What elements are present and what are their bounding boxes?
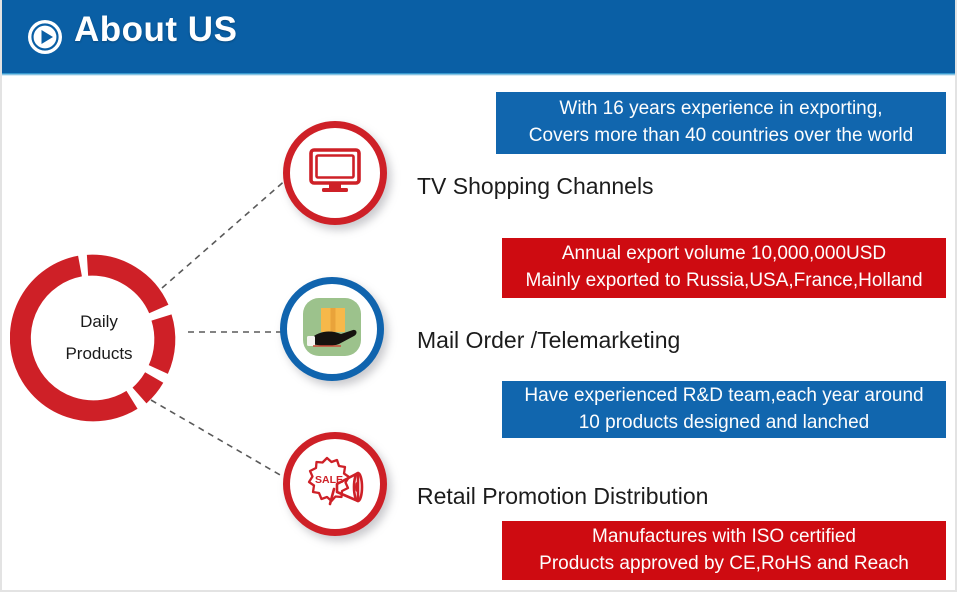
hand-holding-box-icon [301, 296, 363, 363]
banner-rnd-team-line2: 10 products designed and lanched [579, 410, 870, 437]
banner-export-volume-line1: Annual export volume 10,000,000USD [562, 241, 886, 268]
node-mail-order[interactable] [280, 277, 384, 381]
play-circle-icon [27, 19, 63, 55]
television-icon [307, 146, 363, 201]
donut-segment-3 [158, 318, 165, 370]
daily-products-donut [10, 249, 188, 427]
banner-rnd-team-line1: Have experienced R&D team,each year arou… [524, 383, 923, 410]
sale-megaphone-icon: SALE [304, 456, 366, 513]
node-label-mail-order: Mail Order /Telemarketing [417, 327, 680, 354]
about-us-infographic: About US Daily Products [0, 0, 957, 592]
donut-segment-4 [140, 378, 155, 396]
banner-certification-line2: Products approved by CE,RoHS and Reach [539, 551, 909, 578]
header-underline [2, 73, 957, 76]
donut-segment-1 [20, 266, 132, 411]
node-retail-promotion[interactable]: SALE [283, 432, 387, 536]
banner-export-volume: Annual export volume 10,000,000USD Mainl… [502, 238, 946, 298]
node-label-retail-promotion: Retail Promotion Distribution [417, 483, 708, 510]
banner-certification-line1: Manufactures with ISO certified [592, 524, 856, 551]
banner-experience-line1: With 16 years experience in exporting, [559, 96, 882, 123]
donut-segment-2 [88, 265, 159, 309]
node-label-tv-shopping: TV Shopping Channels [417, 173, 654, 200]
banner-certification: Manufactures with ISO certified Products… [502, 521, 946, 580]
banner-experience-line2: Covers more than 40 countries over the w… [529, 123, 913, 150]
banner-rnd-team: Have experienced R&D team,each year arou… [502, 381, 946, 438]
page-title: About US [74, 10, 237, 50]
banner-experience: With 16 years experience in exporting, C… [496, 92, 946, 154]
node-tv-shopping[interactable] [283, 121, 387, 225]
banner-export-volume-line2: Mainly exported to Russia,USA,France,Hol… [525, 268, 922, 295]
